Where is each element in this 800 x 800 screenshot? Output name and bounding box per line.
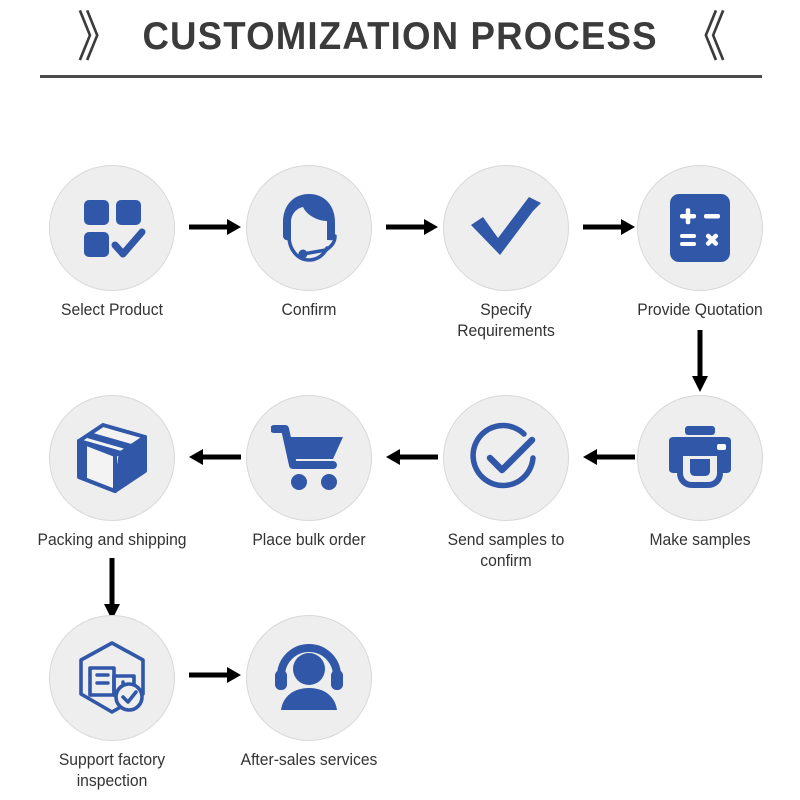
step-icon-circle <box>637 165 763 291</box>
printer-icon <box>663 425 737 491</box>
step-icon-circle <box>246 395 372 521</box>
page-title: CUSTOMIZATION PROCESS <box>142 15 657 59</box>
title-row: 》 CUSTOMIZATION PROCESS 《 <box>0 8 800 66</box>
step-label: After-sales services <box>233 750 385 771</box>
step-node-after-sales-services[interactable]: After-sales services <box>229 615 389 771</box>
step-label: Support factory inspection <box>36 750 188 791</box>
shopping-cart-icon <box>271 423 347 493</box>
arrow-step8-to-step9 <box>102 558 122 620</box>
page-header: 》 CUSTOMIZATION PROCESS 《 <box>0 0 800 90</box>
step-icon-circle <box>49 615 175 741</box>
step-label: Send samples to confirm <box>430 530 582 571</box>
step-label: Specify Requirements <box>430 300 582 341</box>
step-label: Make samples <box>624 530 776 551</box>
step-node-provide-quotation[interactable]: Provide Quotation <box>620 165 780 321</box>
step-icon-circle <box>443 165 569 291</box>
factory-inspection-icon <box>72 638 152 718</box>
chevron-right-double-icon: 》 <box>77 10 120 64</box>
calculator-icon <box>668 192 732 264</box>
step-node-send-samples-to-confirm[interactable]: Send samples to confirm <box>426 395 586 571</box>
chevron-left-double-icon: 《 <box>680 10 723 64</box>
support-person-icon <box>271 644 347 712</box>
checkmark-icon <box>467 193 545 263</box>
step-node-make-samples[interactable]: Make samples <box>620 395 780 551</box>
step-node-place-bulk-order[interactable]: Place bulk order <box>229 395 389 551</box>
step-label: Provide Quotation <box>624 300 776 321</box>
step-node-confirm[interactable]: Confirm <box>229 165 389 321</box>
title-divider <box>40 75 762 78</box>
step-node-support-factory-inspection[interactable]: Support factory inspection <box>32 615 192 791</box>
step-icon-circle <box>246 165 372 291</box>
step-icon-circle <box>637 395 763 521</box>
step-icon-circle <box>443 395 569 521</box>
step-label: Confirm <box>233 300 385 321</box>
step-icon-circle <box>49 165 175 291</box>
step-label: Place bulk order <box>233 530 385 551</box>
headset-agent-icon <box>269 188 349 268</box>
step-label: Packing and shipping <box>36 530 188 551</box>
check-circle-icon <box>468 420 544 496</box>
package-box-icon <box>73 421 151 495</box>
step-node-specify-requirements[interactable]: Specify Requirements <box>426 165 586 341</box>
step-node-packing-and-shipping[interactable]: Packing and shipping <box>32 395 192 551</box>
arrow-step4-to-step5 <box>690 330 710 392</box>
grid-check-icon <box>76 192 148 264</box>
step-icon-circle <box>49 395 175 521</box>
step-node-select-product[interactable]: Select Product <box>32 165 192 321</box>
step-label: Select Product <box>36 300 188 321</box>
step-icon-circle <box>246 615 372 741</box>
